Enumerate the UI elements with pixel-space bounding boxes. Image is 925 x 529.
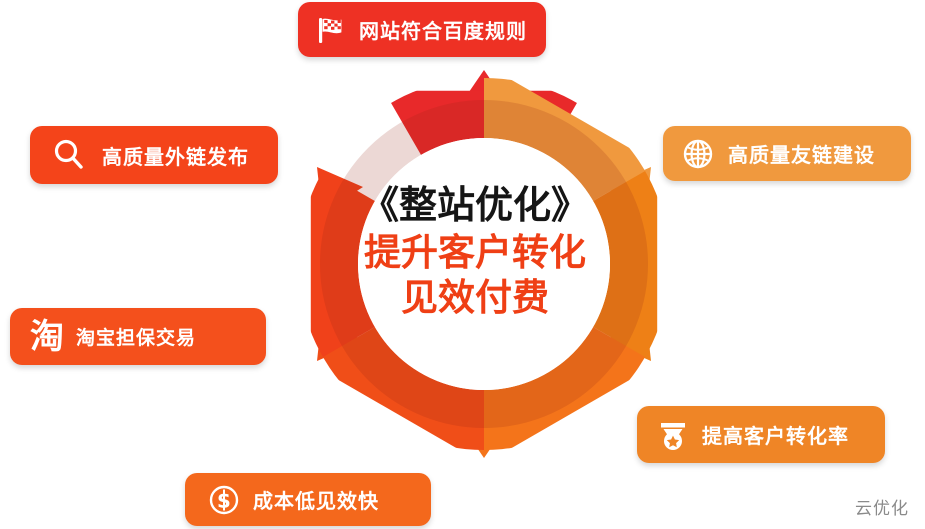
badge-conversion-rate[interactable]: 提高客户转化率 bbox=[637, 406, 885, 463]
infographic-canvas: 《整站优化》 提升客户转化 见效付费 bbox=[0, 0, 925, 529]
badge-label: 成本低见效快 bbox=[253, 485, 379, 514]
badge-outbound-links[interactable]: 高质量外链发布 bbox=[30, 126, 278, 184]
globe-icon bbox=[681, 137, 715, 171]
badge-baidu-rules[interactable]: 网站符合百度规则 bbox=[298, 2, 546, 57]
ring-inner-disc bbox=[358, 138, 610, 390]
medal-star-icon bbox=[655, 417, 691, 453]
cycle-ring bbox=[282, 62, 686, 466]
dollar-coin-icon: S bbox=[207, 483, 241, 517]
badge-label: 网站符合百度规则 bbox=[359, 15, 527, 44]
badge-low-cost[interactable]: S 成本低见效快 bbox=[185, 473, 431, 526]
taobao-logo-icon: 淘 bbox=[30, 320, 64, 354]
badge-label: 高质量外链发布 bbox=[102, 141, 249, 170]
search-icon bbox=[50, 136, 88, 174]
checkered-flag-icon bbox=[314, 13, 348, 47]
cycle-ring-svg bbox=[282, 62, 686, 466]
badge-friend-links[interactable]: 高质量友链建设 bbox=[663, 126, 911, 181]
badge-label: 高质量友链建设 bbox=[728, 139, 875, 168]
badge-taobao[interactable]: 淘 淘宝担保交易 bbox=[10, 308, 266, 365]
watermark: 云优化 bbox=[855, 494, 909, 519]
badge-label: 提高客户转化率 bbox=[702, 420, 849, 449]
badge-label: 淘宝担保交易 bbox=[76, 323, 196, 350]
